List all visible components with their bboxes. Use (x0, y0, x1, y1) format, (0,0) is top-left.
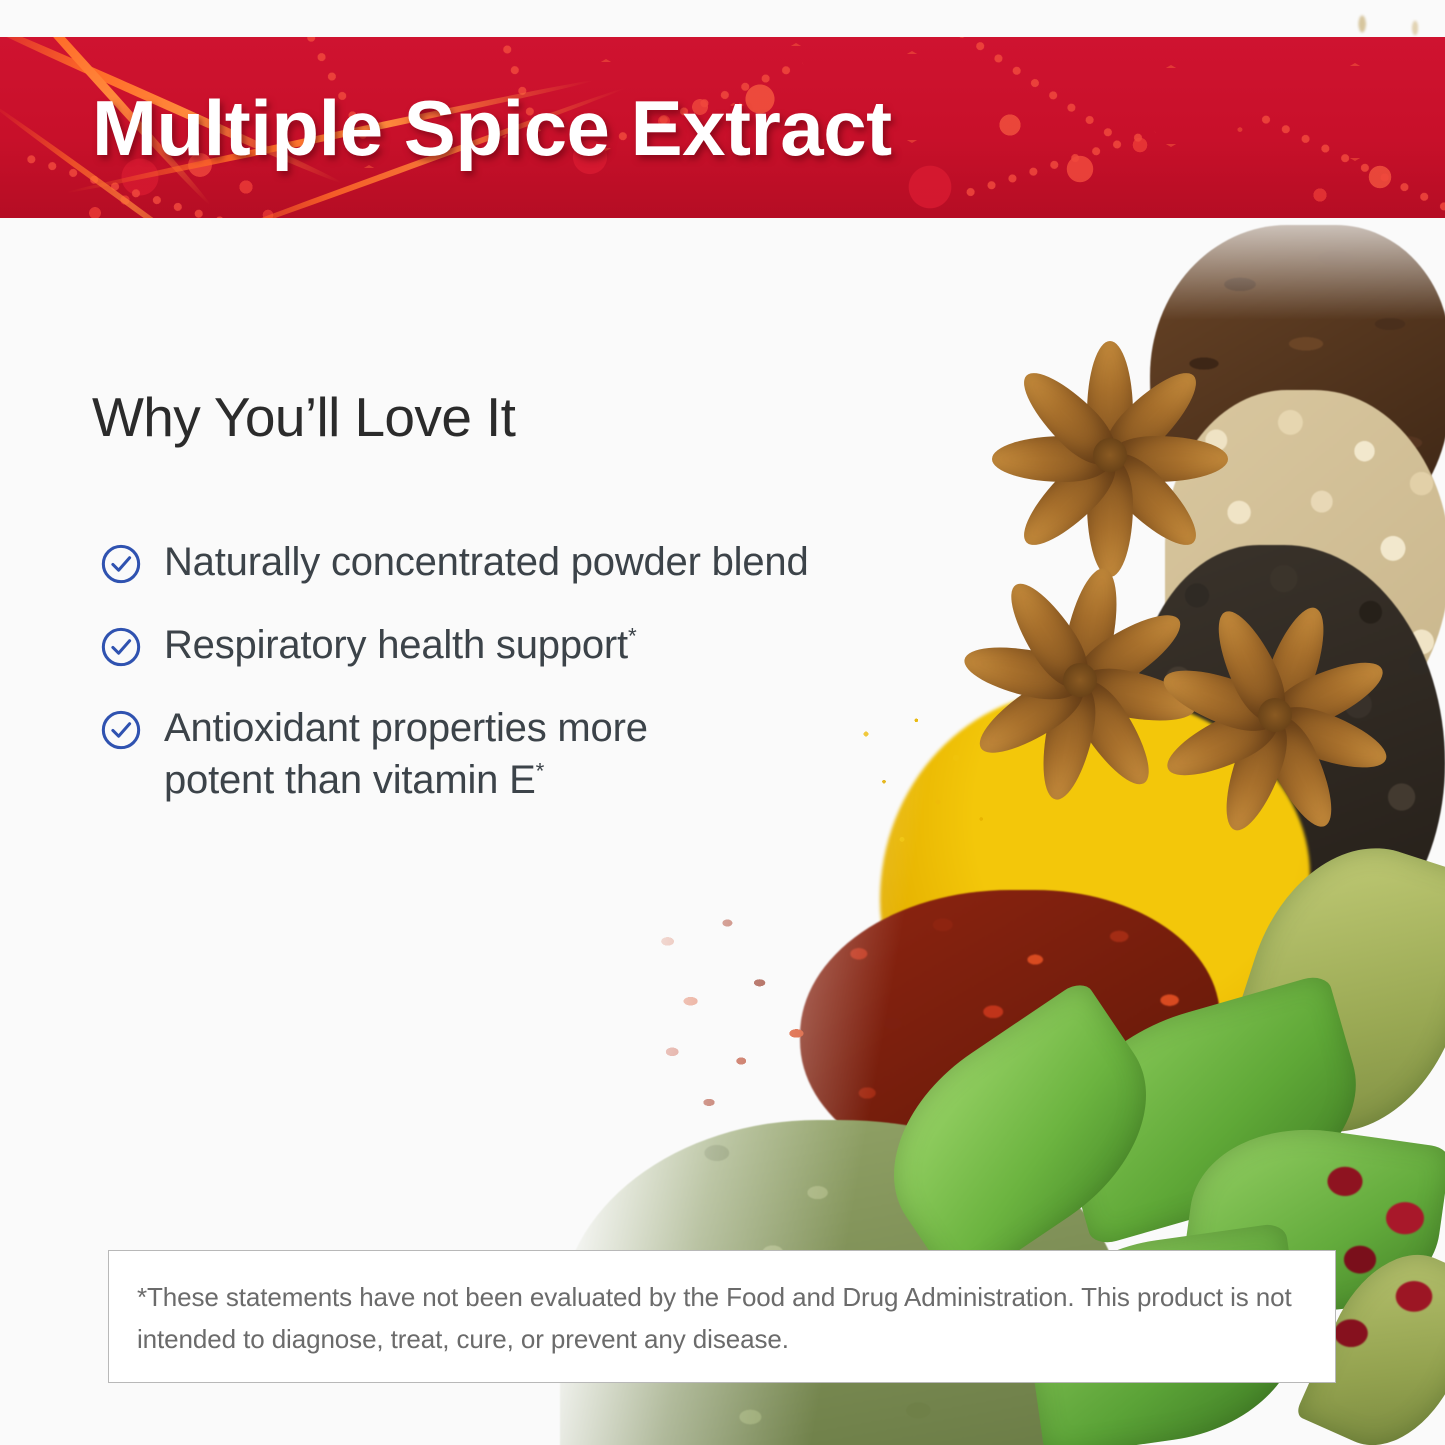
benefit-footnote-2: * (628, 624, 637, 649)
benefit-text-2: Respiratory health support (164, 623, 628, 667)
top-spice-specks (1330, 0, 1445, 40)
benefit-item-2: Respiratory health support* (100, 620, 920, 671)
black-peppercorns-spice (1135, 545, 1445, 965)
benefit-label: Naturally concentrated powder blend (164, 537, 809, 588)
star-anise-2 (955, 555, 1205, 805)
product-marketing-image: Multiple Spice Extract Why You’ll Love I… (0, 0, 1445, 1445)
basil-leaf-1 (1038, 973, 1382, 1248)
benefit-text-3: Antioxidant properties more potent than … (164, 706, 648, 801)
star-anise-3 (1180, 620, 1370, 810)
star-anise-1 (985, 330, 1235, 580)
header-banner: Multiple Spice Extract (0, 37, 1445, 218)
benefit-item-3: Antioxidant properties more potent than … (100, 703, 920, 805)
basil-leaf-2 (851, 978, 1189, 1292)
check-circle-icon (100, 626, 142, 668)
benefit-label: Respiratory health support* (164, 620, 636, 671)
chili-flakes-scatter (640, 900, 870, 1130)
coriander-seeds-spice (1165, 390, 1445, 750)
benefit-text-1: Naturally concentrated powder blend (164, 540, 809, 584)
check-circle-icon (100, 709, 142, 751)
cloves-spice (1150, 225, 1445, 555)
section-heading: Why You’ll Love It (92, 387, 515, 448)
bay-leaf-1 (1210, 820, 1445, 1161)
check-circle-icon (100, 543, 142, 585)
page-title: Multiple Spice Extract (92, 89, 892, 167)
disclaimer-text: *These statements have not been evaluate… (137, 1277, 1307, 1360)
benefit-label: Antioxidant properties more potent than … (164, 703, 724, 805)
benefit-item-1: Naturally concentrated powder blend (100, 537, 920, 588)
turmeric-powder-spice (880, 690, 1310, 1110)
benefits-list: Naturally concentrated powder blend Resp… (100, 537, 920, 838)
chili-flakes-spice (800, 890, 1220, 1180)
benefit-footnote-3: * (536, 758, 545, 783)
disclaimer-box: *These statements have not been evaluate… (108, 1250, 1336, 1383)
